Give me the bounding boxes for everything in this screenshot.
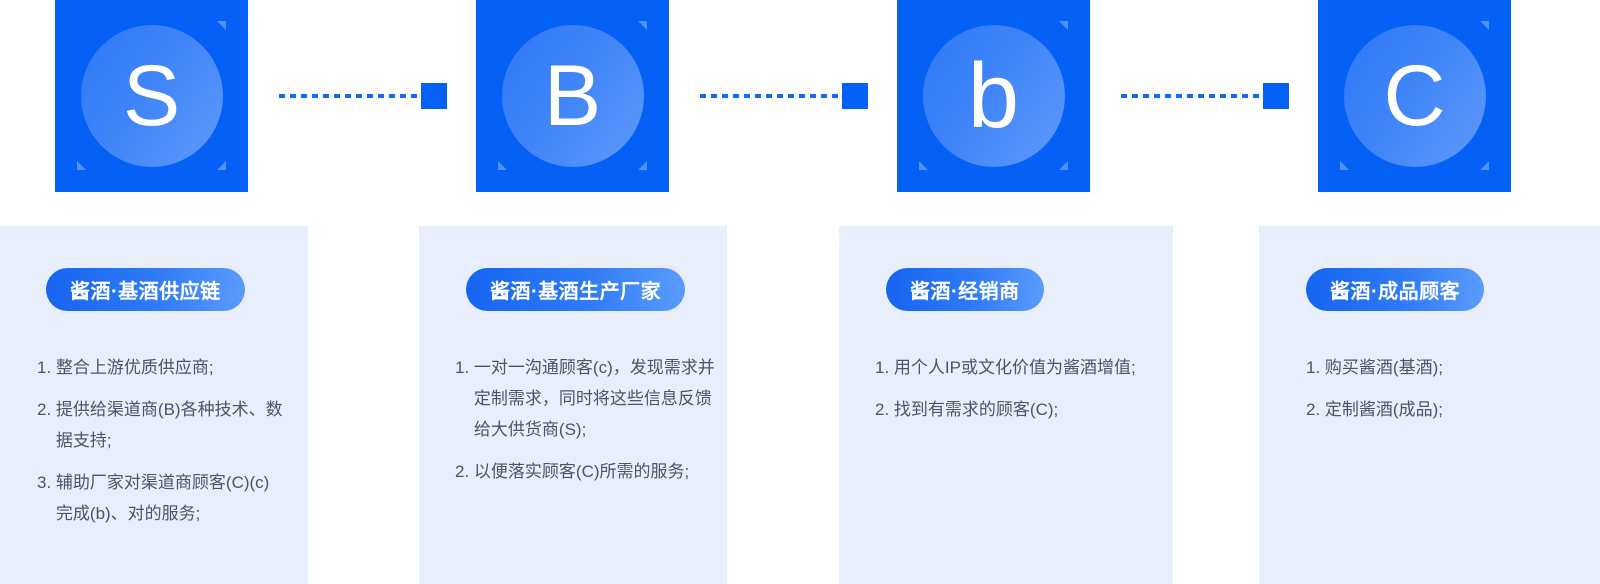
list-item: 1. 用个人IP或文化价值为酱酒增值; xyxy=(875,352,1151,383)
corner-tick-top-right-icon xyxy=(1059,21,1068,30)
list-item: 2. 以便落实顾客(C)所需的服务; xyxy=(455,456,717,487)
info-panel-row: 酱酒·基酒供应链 1. 整合上游优质供应商; 2. 提供给渠道商(B)各种技术、… xyxy=(0,226,1600,584)
panel-item-list: 1. 用个人IP或文化价值为酱酒增值; 2. 找到有需求的顾客(C); xyxy=(875,352,1151,436)
list-item: 1. 购买酱酒(基酒); xyxy=(1306,352,1576,383)
info-panel-supply-chain: 酱酒·基酒供应链 1. 整合上游优质供应商; 2. 提供给渠道商(B)各种技术、… xyxy=(0,226,308,584)
list-item: 2. 找到有需求的顾客(C); xyxy=(875,394,1151,425)
list-item-text: 整合上游优质供应商; xyxy=(56,352,285,383)
corner-tick-bottom-left-icon xyxy=(919,161,928,170)
connector-b-lower-to-c xyxy=(1121,94,1289,98)
letter-tile-s[interactable]: S xyxy=(55,0,248,192)
letter-tile-b-upper[interactable]: B xyxy=(476,0,669,192)
corner-tick-top-right-icon xyxy=(1480,21,1489,30)
connector-square-cap-icon xyxy=(842,83,868,109)
panel-title-customer: 酱酒·成品顾客 xyxy=(1306,268,1484,311)
list-item-text: 提供给渠道商(B)各种技术、数据支持; xyxy=(56,394,285,456)
connector-b-to-b-lower xyxy=(700,94,868,98)
corner-tick-bottom-right-icon xyxy=(1059,161,1068,170)
corner-tick-top-right-icon xyxy=(217,21,226,30)
list-item-text: 一对一沟通顾客(c)，发现需求并定制需求，同时将这些信息反馈给大供货商(S); xyxy=(474,352,717,445)
panel-title-producer: 酱酒·基酒生产厂家 xyxy=(466,268,685,311)
list-item-number: 2. xyxy=(37,394,56,456)
dashed-line-icon xyxy=(700,94,842,98)
letter-tile-c[interactable]: C xyxy=(1318,0,1511,192)
info-panel-distributor: 酱酒·经销商 1. 用个人IP或文化价值为酱酒增值; 2. 找到有需求的顾客(C… xyxy=(839,226,1173,584)
list-item-text: 找到有需求的顾客(C); xyxy=(894,394,1151,425)
list-item-number: 2. xyxy=(1306,394,1325,425)
connector-square-cap-icon xyxy=(421,83,447,109)
dashed-line-icon xyxy=(279,94,421,98)
list-item-text: 定制酱酒(成品); xyxy=(1325,394,1576,425)
list-item-number: 1. xyxy=(455,352,474,445)
list-item-number: 2. xyxy=(875,394,894,425)
list-item-text: 以便落实顾客(C)所需的服务; xyxy=(474,456,717,487)
corner-tick-bottom-right-icon xyxy=(638,161,647,170)
list-item-text: 购买酱酒(基酒); xyxy=(1325,352,1576,383)
list-item: 1. 一对一沟通顾客(c)，发现需求并定制需求，同时将这些信息反馈给大供货商(S… xyxy=(455,352,717,445)
list-item-number: 2. xyxy=(455,456,474,487)
corner-tick-bottom-left-icon xyxy=(498,161,507,170)
connector-square-cap-icon xyxy=(1263,83,1289,109)
sbc-flow-diagram: S B b C xyxy=(0,0,1600,584)
panel-item-list: 1. 一对一沟通顾客(c)，发现需求并定制需求，同时将这些信息反馈给大供货商(S… xyxy=(455,352,717,498)
corner-tick-top-right-icon xyxy=(638,21,647,30)
connector-s-to-b xyxy=(279,94,447,98)
letter-tile-row: S B b C xyxy=(0,0,1600,192)
corner-tick-bottom-right-icon xyxy=(217,161,226,170)
corner-tick-bottom-left-icon xyxy=(77,161,86,170)
dashed-line-icon xyxy=(1121,94,1263,98)
list-item-text: 用个人IP或文化价值为酱酒增值; xyxy=(894,352,1151,383)
list-item-number: 1. xyxy=(1306,352,1325,383)
list-item: 1. 整合上游优质供应商; xyxy=(37,352,285,383)
list-item-number: 1. xyxy=(37,352,56,383)
panel-item-list: 1. 购买酱酒(基酒); 2. 定制酱酒(成品); xyxy=(1306,352,1576,436)
panel-item-list: 1. 整合上游优质供应商; 2. 提供给渠道商(B)各种技术、数据支持; 3. … xyxy=(37,352,285,540)
letter-tile-b-lower[interactable]: b xyxy=(897,0,1090,192)
list-item-text: 辅助厂家对渠道商顾客(C)(c)完成(b)、对的服务; xyxy=(56,467,285,529)
list-item: 2. 提供给渠道商(B)各种技术、数据支持; xyxy=(37,394,285,456)
info-panel-customer: 酱酒·成品顾客 1. 购买酱酒(基酒); 2. 定制酱酒(成品); xyxy=(1259,226,1600,584)
list-item: 2. 定制酱酒(成品); xyxy=(1306,394,1576,425)
list-item: 3. 辅助厂家对渠道商顾客(C)(c)完成(b)、对的服务; xyxy=(37,467,285,529)
info-panel-producer: 酱酒·基酒生产厂家 1. 一对一沟通顾客(c)，发现需求并定制需求，同时将这些信… xyxy=(419,226,727,584)
panel-title-distributor: 酱酒·经销商 xyxy=(886,268,1044,311)
corner-tick-bottom-left-icon xyxy=(1340,161,1349,170)
panel-title-supply-chain: 酱酒·基酒供应链 xyxy=(46,268,245,311)
corner-tick-bottom-right-icon xyxy=(1480,161,1489,170)
list-item-number: 1. xyxy=(875,352,894,383)
list-item-number: 3. xyxy=(37,467,56,529)
